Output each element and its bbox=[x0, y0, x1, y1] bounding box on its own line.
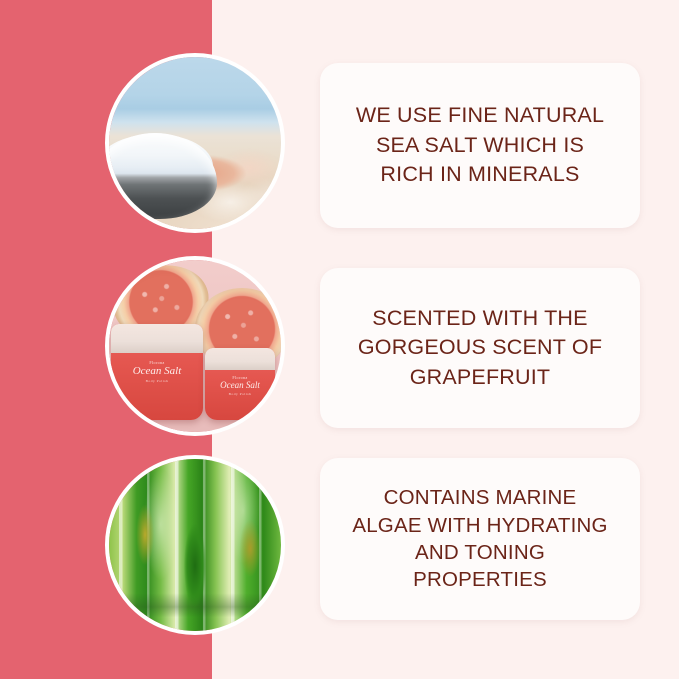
feature-text-grapefruit: Scented with the gorgeous scent of grape… bbox=[358, 304, 602, 393]
product-jar-small: Florona Ocean Salt Body Polish bbox=[205, 348, 275, 420]
feature-image-sea-salt bbox=[105, 53, 285, 233]
jar-brand-large: Florona bbox=[118, 360, 195, 365]
product-benefits-infographic: We use fine natural sea salt which is ri… bbox=[0, 0, 679, 679]
marine-algae-tubes-photo bbox=[109, 459, 281, 631]
feature-card-sea-salt: We use fine natural sea salt which is ri… bbox=[320, 63, 640, 228]
jar-lid-large bbox=[111, 324, 203, 353]
jar-subtitle-small: Body Polish bbox=[211, 392, 270, 396]
jar-brand-small: Florona bbox=[211, 375, 270, 380]
feature-image-marine-algae bbox=[105, 455, 285, 635]
salt-grains-detail bbox=[105, 134, 213, 180]
jar-lid-small bbox=[205, 348, 275, 370]
jar-name-small: Ocean Salt bbox=[211, 380, 270, 391]
jar-label-large: Florona Ocean Salt Body Polish bbox=[118, 360, 195, 383]
product-jar-large: Florona Ocean Salt Body Polish bbox=[111, 324, 203, 420]
ocean-salt-jars-photo: Florona Ocean Salt Body Polish Florona O… bbox=[109, 260, 281, 432]
feature-text-marine-algae: Contains marine algae with hydrating and… bbox=[352, 484, 607, 594]
feature-image-grapefruit: Florona Ocean Salt Body Polish Florona O… bbox=[105, 256, 285, 436]
jar-label-small: Florona Ocean Salt Body Polish bbox=[211, 375, 270, 396]
bowl-mesh-detail bbox=[105, 172, 215, 212]
sea-salt-bowl-photo bbox=[109, 57, 281, 229]
feature-text-sea-salt: We use fine natural sea salt which is ri… bbox=[356, 101, 604, 190]
feature-card-grapefruit: Scented with the gorgeous scent of grape… bbox=[320, 268, 640, 428]
feature-card-marine-algae: Contains marine algae with hydrating and… bbox=[320, 458, 640, 620]
jar-subtitle-large: Body Polish bbox=[118, 379, 195, 383]
jar-name-large: Ocean Salt bbox=[118, 365, 195, 379]
